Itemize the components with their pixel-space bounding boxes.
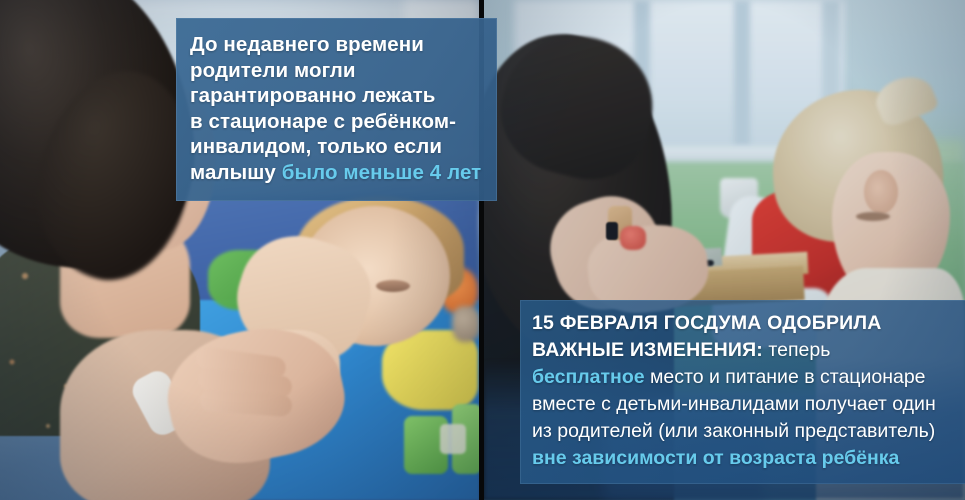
caption-panel-top: До недавнего времени родители могли гара…: [176, 18, 497, 201]
caption-text: гарантированно лежать: [190, 84, 435, 107]
caption-line: До недавнего времени: [190, 32, 493, 58]
caption-line: вместе с детьми-инвалидами получает один: [532, 391, 965, 418]
caption-line: гарантированно лежать: [190, 83, 493, 109]
caption-line: ВАЖНЫЕ ИЗМЕНЕНИЯ: теперь: [532, 337, 965, 364]
caption-line: в стационаре с ребёнком-: [190, 109, 493, 135]
caption-text: До недавнего времени: [190, 33, 424, 56]
caption-highlight: было меньше 4 лет: [282, 161, 482, 184]
caption-highlight: бесплатное: [532, 366, 645, 388]
caption-line: 15 ФЕВРАЛЯ ГОСДУМА ОДОБРИЛА: [532, 310, 965, 337]
infographic-canvas: До недавнего времени родители могли гара…: [0, 0, 965, 500]
caption-text: из родителей (или законный представитель…: [532, 420, 935, 442]
caption-panel-bottom: 15 ФЕВРАЛЯ ГОСДУМА ОДОБРИЛА ВАЖНЫЕ ИЗМЕН…: [520, 300, 965, 484]
caption-text: малышу: [190, 161, 282, 184]
caption-text: в стационаре с ребёнком-: [190, 110, 456, 133]
caption-line: бесплатное место и питание в стационаре: [532, 364, 965, 391]
caption-text: теперь: [763, 339, 830, 361]
caption-line: малышу было меньше 4 лет: [190, 160, 493, 186]
caption-highlight: вне зависимости от возраста ребёнка: [532, 447, 899, 469]
caption-line: из родителей (или законный представитель…: [532, 418, 965, 445]
caption-caps: ВАЖНЫЕ ИЗМЕНЕНИЯ:: [532, 339, 763, 361]
caption-text: инвалидом, только если: [190, 135, 442, 158]
caption-line: инвалидом, только если: [190, 134, 493, 160]
caption-text: родители могли: [190, 59, 356, 82]
caption-caps: 15 ФЕВРАЛЯ ГОСДУМА ОДОБРИЛА: [532, 312, 882, 334]
caption-text: место и питание в стационаре: [645, 366, 926, 388]
caption-line: вне зависимости от возраста ребёнка: [532, 445, 965, 472]
caption-line: родители могли: [190, 58, 493, 84]
caption-text: вместе с детьми-инвалидами получает один: [532, 393, 936, 415]
